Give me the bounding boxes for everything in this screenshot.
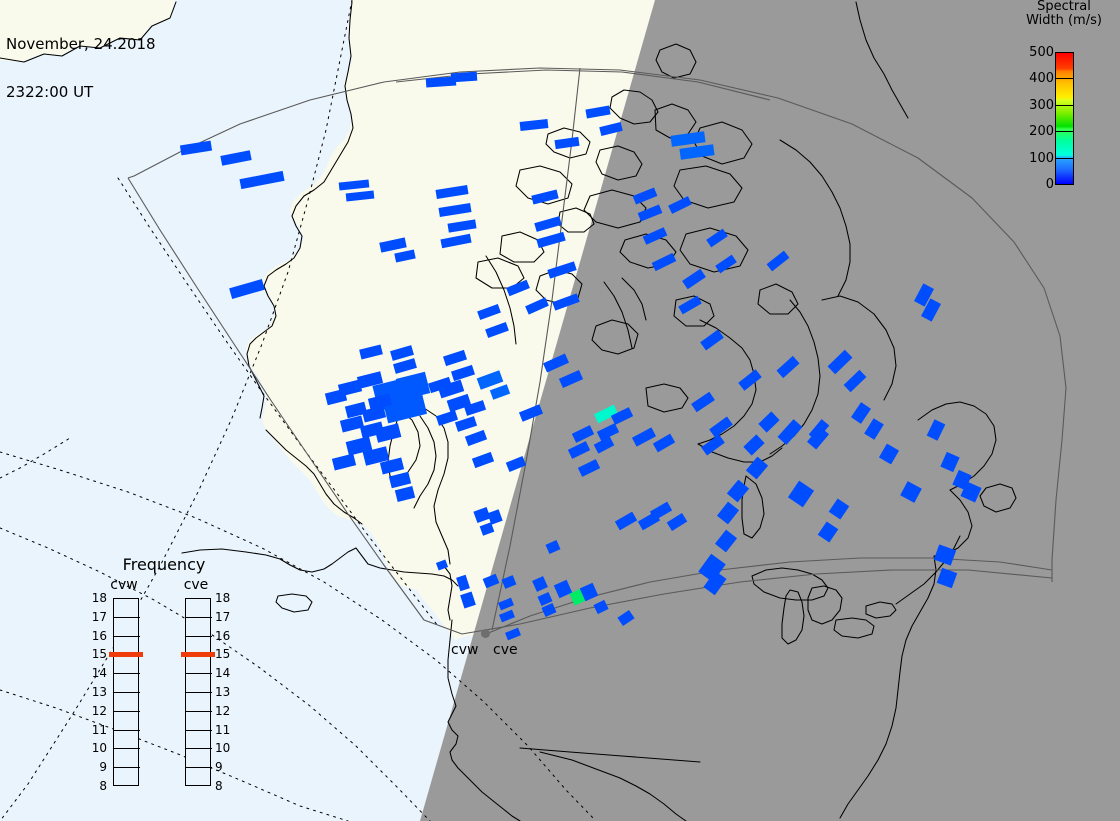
colorbar-title: Spectral Width (m/s)	[1008, 0, 1120, 28]
colorbar-separator	[1055, 158, 1074, 159]
frequency-marker-cve	[181, 652, 215, 657]
colorbar-tick-300: 300	[1029, 99, 1054, 112]
colorbar-separator	[1055, 78, 1074, 79]
frequency-tick-left-8: 8	[87, 780, 107, 792]
radar-site-label-cve: cve	[493, 643, 518, 658]
frequency-tick-right-18: 18	[215, 592, 235, 604]
frequency-tick-right-13: 13	[215, 686, 235, 698]
frequency-gridline	[114, 692, 140, 693]
colorbar-tick-400: 400	[1029, 72, 1054, 85]
frequency-gridline	[114, 673, 140, 674]
frequency-marker-cvw	[109, 652, 143, 657]
colorbar-separator	[1055, 105, 1074, 106]
frequency-gridline	[114, 617, 140, 618]
frequency-tick-right-14: 14	[215, 667, 235, 679]
frequency-tick-left-18: 18	[87, 592, 107, 604]
frequency-tick-right-11: 11	[215, 724, 235, 736]
radar-site-label-cvw: cvw	[451, 643, 478, 658]
frequency-legend: Frequency cvw cve 18171615141312111098 1…	[84, 556, 244, 806]
frequency-gridline	[114, 748, 140, 749]
frequency-tick-left-17: 17	[87, 611, 107, 623]
frequency-tick-left-15: 15	[87, 648, 107, 660]
frequency-gridline	[114, 767, 140, 768]
frequency-gridline	[186, 673, 212, 674]
frequency-gridline	[186, 711, 212, 712]
frequency-tick-right-10: 10	[215, 742, 235, 754]
colorbar-separator	[1055, 131, 1074, 132]
frequency-tick-left-11: 11	[87, 724, 107, 736]
frequency-legend-title: Frequency	[84, 556, 244, 573]
frequency-tick-right-8: 8	[215, 780, 235, 792]
frequency-tick-left-16: 16	[87, 630, 107, 642]
frequency-tick-right-12: 12	[215, 705, 235, 717]
frequency-tick-left-9: 9	[87, 761, 107, 773]
frequency-gridline	[186, 730, 212, 731]
colorbar-tick-200: 200	[1029, 125, 1054, 138]
frequency-column-label-cve: cve	[174, 578, 218, 593]
frequency-gridline	[186, 767, 212, 768]
frequency-tick-right-17: 17	[215, 611, 235, 623]
radar-site-dot	[481, 629, 490, 638]
spectral-width-cell	[451, 72, 478, 83]
timestamp-time: 2322:00 UT	[6, 84, 156, 100]
superdarn-map-window: November, 24.2018 2322:00 UT Spectral Wi…	[0, 0, 1120, 821]
spectral-width-colorbar: Spectral Width (m/s) 500 400 300 200 100…	[1008, 0, 1120, 200]
colorbar-title-line1: Spectral	[1008, 0, 1120, 14]
colorbar-tick-100: 100	[1029, 152, 1054, 165]
colorbar-gradient-strip	[1055, 52, 1074, 185]
frequency-column-label-cvw: cvw	[102, 578, 146, 593]
frequency-tick-right-16: 16	[215, 630, 235, 642]
colorbar-tick-500: 500	[1029, 46, 1054, 59]
colorbar-title-line2: Width (m/s)	[1008, 14, 1120, 28]
timestamp-date: November, 24.2018	[6, 36, 156, 52]
frequency-gridline	[114, 711, 140, 712]
frequency-bar-cvw[interactable]	[113, 598, 139, 786]
frequency-bar-cve[interactable]	[185, 598, 211, 786]
frequency-tick-right-9: 9	[215, 761, 235, 773]
timestamp-overlay: November, 24.2018 2322:00 UT	[6, 4, 156, 132]
frequency-tick-left-12: 12	[87, 705, 107, 717]
frequency-gridline	[186, 748, 212, 749]
frequency-gridline	[114, 730, 140, 731]
frequency-gridline	[186, 617, 212, 618]
frequency-tick-right-15: 15	[215, 648, 235, 660]
frequency-gridline	[186, 692, 212, 693]
frequency-tick-left-13: 13	[87, 686, 107, 698]
frequency-tick-left-14: 14	[87, 667, 107, 679]
frequency-tick-left-10: 10	[87, 742, 107, 754]
frequency-gridline	[186, 636, 212, 637]
colorbar-tick-0: 0	[1046, 178, 1054, 191]
frequency-gridline	[114, 636, 140, 637]
